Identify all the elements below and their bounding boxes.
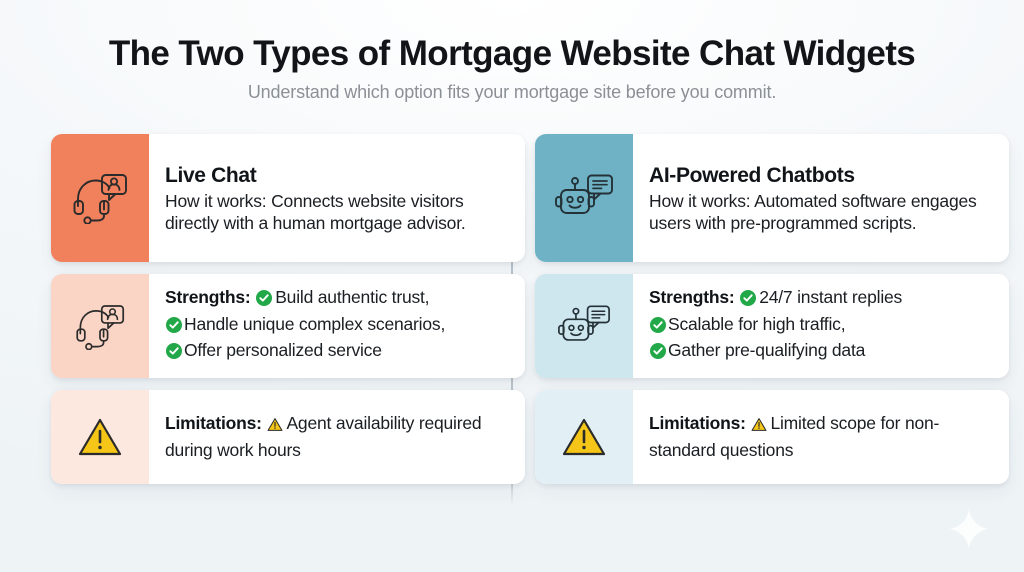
ai-chatbots-strengths-label: Strengths: [649,287,735,307]
ai-chatbots-overview-body: AI-Powered Chatbots How it works: Automa… [633,134,1009,262]
live-chat-description: How it works: Connects website visitors … [165,190,509,235]
warning-icon-panel-left [51,390,149,484]
card-ai-chatbots-strengths[interactable]: Strengths: 24/7 instant replies Scalable… [535,274,1009,378]
warning-triangle-icon [751,415,767,439]
live-chat-limitations-label: Limitations: [165,413,262,433]
headset-icon-panel [51,134,149,262]
ai-chatbots-limitations-text: Limitations: Limited scope for non-stand… [649,412,993,463]
live-chat-limitations-body: Limitations: Agent availability required… [149,390,525,484]
headset-icon [72,172,128,224]
ai-chatbots-description: How it works: Automated software engages… [649,190,993,235]
page-title: The Two Types of Mortgage Website Chat W… [0,34,1024,73]
check-circle-icon [256,289,272,313]
live-chat-overview-body: Live Chat How it works: Connects website… [149,134,525,262]
robot-icon-panel-strengths [535,274,633,378]
page-header: The Two Types of Mortgage Website Chat W… [0,0,1024,103]
card-ai-chatbots-limitations[interactable]: Limitations: Limited scope for non-stand… [535,390,1009,484]
ai-chatbots-title: AI-Powered Chatbots [649,163,993,188]
ai-chatbots-strength-1: 24/7 instant replies [759,287,902,307]
live-chat-strength-2: Handle unique complex scenarios, [184,314,445,334]
ai-chatbots-limitations-body: Limitations: Limited scope for non-stand… [633,390,1009,484]
ai-chatbots-strength-3: Gather pre-qualifying data [668,340,865,360]
card-live-chat-overview[interactable]: Live Chat How it works: Connects website… [51,134,525,262]
ai-chatbots-strengths-body: Strengths: 24/7 instant replies Scalable… [633,274,1009,378]
live-chat-strength-1: Build authentic trust, [275,287,429,307]
warning-icon-panel-right [535,390,633,484]
live-chat-strengths-label: Strengths: [165,287,251,307]
check-circle-icon [650,316,666,340]
robot-icon [555,173,613,223]
card-live-chat-strengths[interactable]: Strengths: Build authentic trust, Handle… [51,274,525,378]
page-subtitle: Understand which option fits your mortga… [0,82,1024,103]
column-ai-chatbots: AI-Powered Chatbots How it works: Automa… [535,134,1009,514]
ai-chatbots-limitations-label: Limitations: [649,413,746,433]
ai-chatbots-strength-2: Scalable for high traffic, [668,314,845,334]
column-live-chat: Live Chat How it works: Connects website… [51,134,525,514]
comparison-board: Live Chat How it works: Connects website… [0,134,1024,514]
robot-icon-panel [535,134,633,262]
card-live-chat-limitations[interactable]: Limitations: Agent availability required… [51,390,525,484]
live-chat-strength-3: Offer personalized service [184,340,382,360]
check-circle-icon [166,316,182,340]
headset-icon [75,303,125,350]
check-circle-icon [166,342,182,366]
warning-triangle-icon [561,416,607,458]
live-chat-strengths-text: Strengths: Build authentic trust, Handle… [165,286,509,367]
live-chat-limitations-text: Limitations: Agent availability required… [165,412,509,463]
live-chat-strengths-body: Strengths: Build authentic trust, Handle… [149,274,525,378]
robot-icon [558,304,610,349]
check-circle-icon [740,289,756,313]
live-chat-title: Live Chat [165,163,509,188]
sparkle-icon [948,508,990,550]
warning-triangle-icon [77,416,123,458]
check-circle-icon [650,342,666,366]
card-ai-chatbots-overview[interactable]: AI-Powered Chatbots How it works: Automa… [535,134,1009,262]
ai-chatbots-strengths-text: Strengths: 24/7 instant replies Scalable… [649,286,993,367]
warning-triangle-icon [267,415,283,439]
headset-icon-panel-strengths [51,274,149,378]
